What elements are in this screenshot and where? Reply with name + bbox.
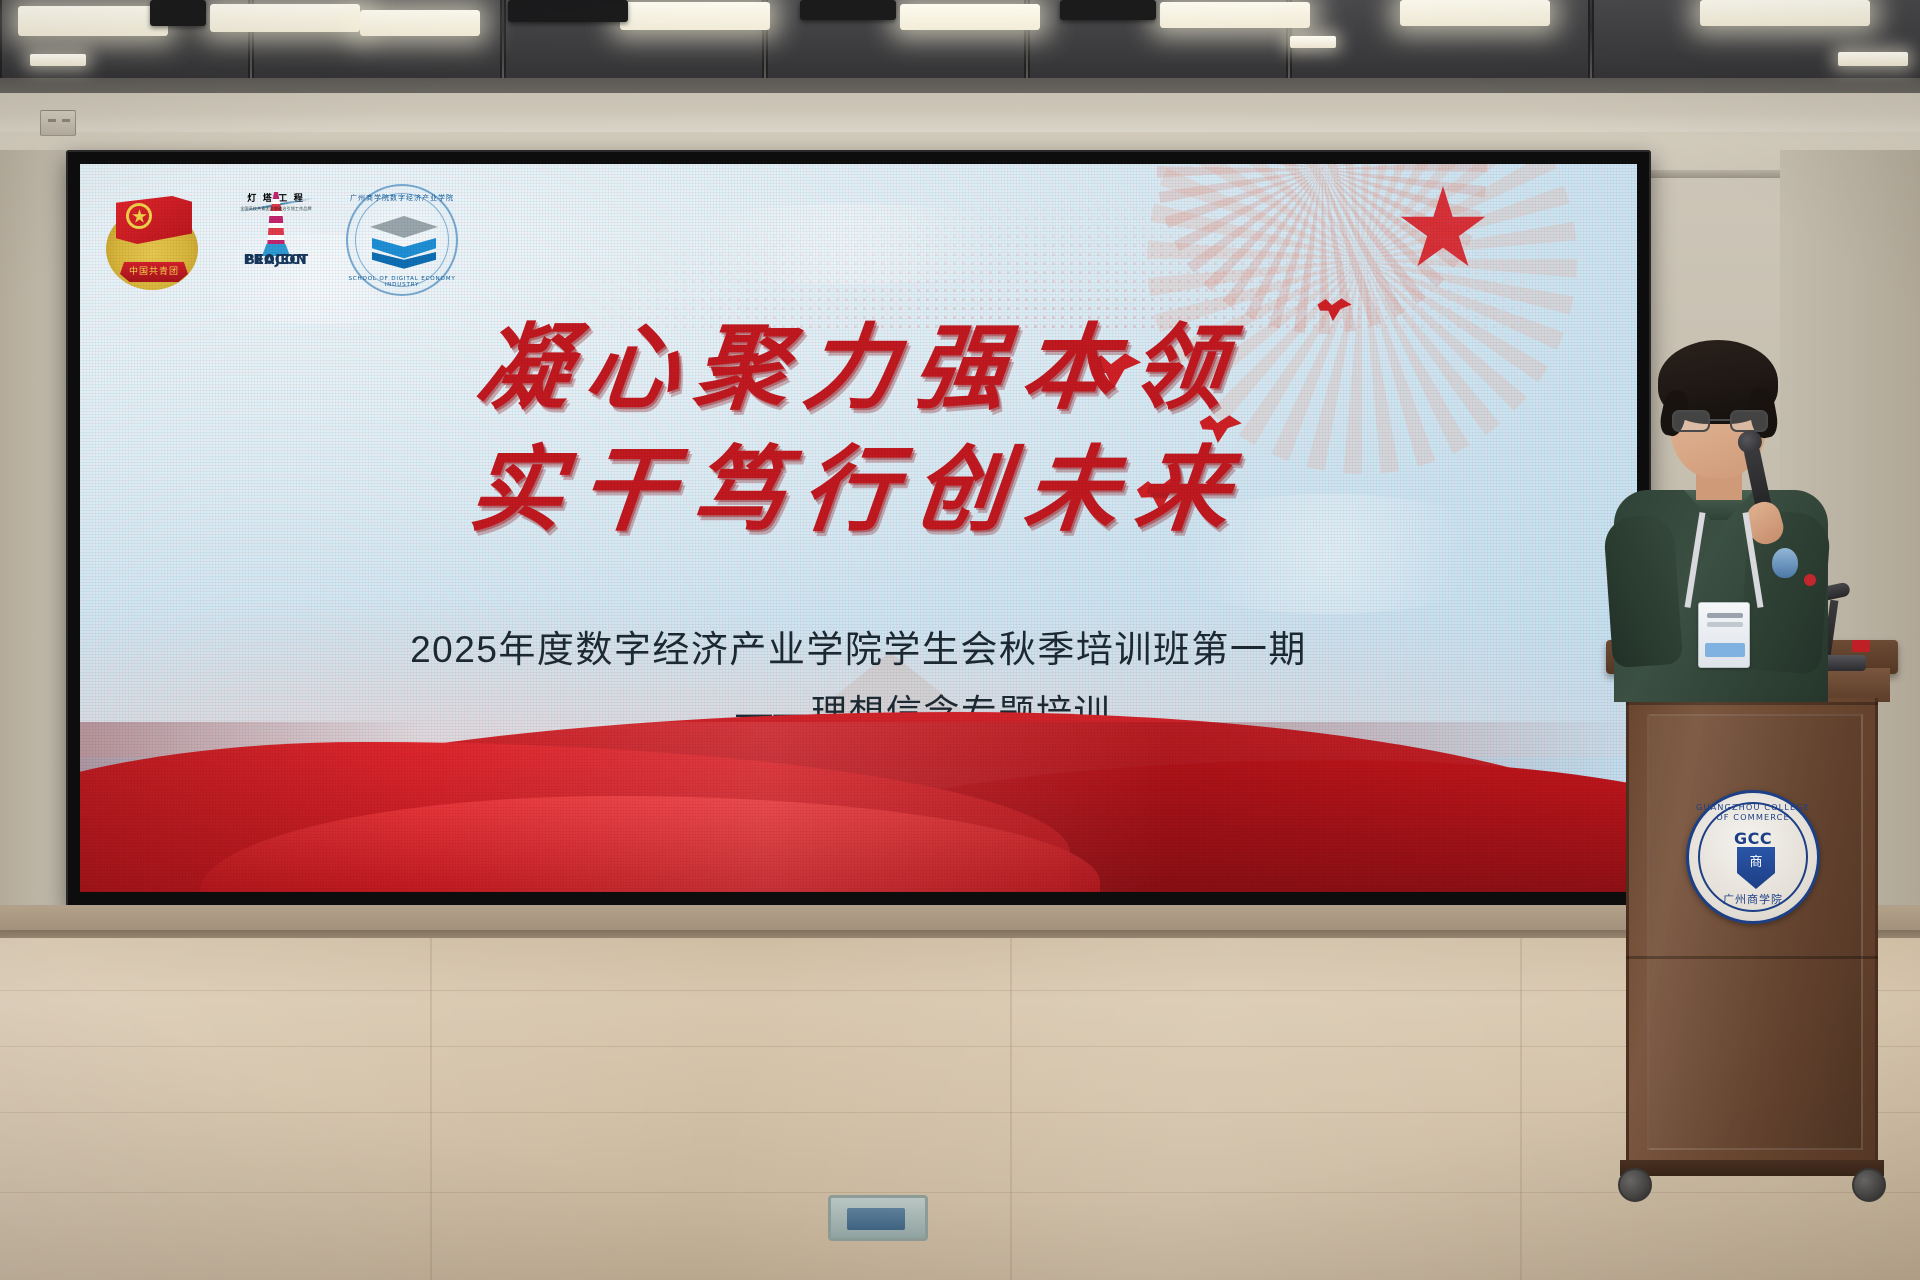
podium-front-panel: [1647, 714, 1863, 1150]
ceiling-light-panel: [900, 4, 1040, 30]
ceiling-speaker: [1060, 0, 1156, 20]
stage-floor-socket-box[interactable]: [828, 1195, 928, 1241]
podium-seam: [1626, 956, 1878, 959]
ceiling-downlight: [1290, 36, 1336, 48]
id-badge-card: [1698, 602, 1750, 668]
crest-monogram: GCC: [1689, 829, 1817, 848]
crest-arc-bottom-text: 广州商学院: [1689, 891, 1817, 907]
headline-block: 凝心聚力强本领 实干笃行创未来: [80, 314, 1637, 544]
beacon-project-logo-icon: BEACON PROJECT 灯 塔 工 程 全国高校共青团思想政治引领工作品牌: [228, 188, 324, 292]
podium-caster-wheel: [1618, 1168, 1652, 1202]
ceiling-speaker: [150, 0, 206, 26]
shirt-red-accent: [1804, 574, 1816, 586]
guangzhou-college-of-commerce-crest-icon: GUANGZHOU COLLEGE OF COMMERCE GCC 商 广州商学…: [1686, 790, 1820, 924]
headline-line-2: 实干笃行创未来: [80, 436, 1637, 544]
podium-base: [1620, 1160, 1884, 1176]
cloud-decoration: [640, 204, 1060, 284]
ceiling-light-panel: [620, 2, 770, 30]
podium-body: [1626, 698, 1878, 1166]
school-logo-text-cn: 广州商学院数字经济产业学院: [348, 193, 456, 203]
speaker-left-arm: [1603, 514, 1683, 669]
communist-youth-league-emblem-icon: 中国共青团: [102, 188, 206, 292]
logo-row: 中国共青团 BEACON PROJECT 灯 塔 工 程 全国高校共青团思想政治…: [102, 184, 458, 296]
wall-cove-highlight: [0, 92, 1920, 132]
eyeglasses-icon: [1672, 410, 1768, 432]
ceiling-light-panel: [1400, 0, 1550, 26]
podium: GUANGZHOU COLLEGE OF COMMERCE GCC 商 广州商学…: [1620, 640, 1884, 1212]
cyl-ribbon-text: 中国共青团: [120, 262, 188, 282]
subtitle-line-1: 2025年度数字经济产业学院学生会秋季培训班第一期: [80, 619, 1637, 673]
led-screen-display: 中国共青团 BEACON PROJECT 灯 塔 工 程 全国高校共青团思想政治…: [80, 164, 1637, 892]
beacon-subtitle-small: 全国高校共青团思想政治引领工作品牌: [228, 206, 324, 212]
shirt-chest-logo-icon: [1772, 548, 1798, 578]
ceiling-light-panel: [1700, 0, 1870, 26]
ceiling-speaker: [508, 0, 628, 22]
led-screen-frame: 中国共青团 BEACON PROJECT 灯 塔 工 程 全国高校共青团思想政治…: [66, 150, 1651, 910]
school-logo-text-en: SCHOOL OF DIGITAL ECONOMY INDUSTRY: [348, 276, 456, 288]
headline-line-1: 凝心聚力强本领: [80, 314, 1637, 422]
podium-red-label: [1852, 640, 1870, 652]
podium-seam: [1626, 702, 1878, 705]
school-of-digital-economy-logo-icon: 广州商学院数字经济产业学院 SCHOOL OF DIGITAL ECONOMY …: [346, 184, 458, 296]
wall-outlet[interactable]: [40, 110, 76, 136]
crest-arc-top-text: GUANGZHOU COLLEGE OF COMMERCE: [1689, 802, 1817, 822]
ceiling-light-panel: [18, 6, 168, 36]
crest-shield-char: 商: [1737, 847, 1775, 877]
speaker-person: [1600, 326, 1840, 686]
beacon-title-line2: PROJECT: [228, 254, 324, 267]
ceiling-downlight: [1838, 52, 1908, 66]
podium-caster-wheel: [1852, 1168, 1886, 1202]
ceiling-downlight: [30, 54, 86, 66]
ceiling-speaker: [800, 0, 896, 20]
ceiling-light-panel: [360, 10, 480, 36]
ceiling-light-panel: [1160, 2, 1310, 28]
auditorium-scene: 中国共青团 BEACON PROJECT 灯 塔 工 程 全国高校共青团思想政治…: [0, 0, 1920, 1280]
ceiling-light-panel: [210, 4, 360, 32]
